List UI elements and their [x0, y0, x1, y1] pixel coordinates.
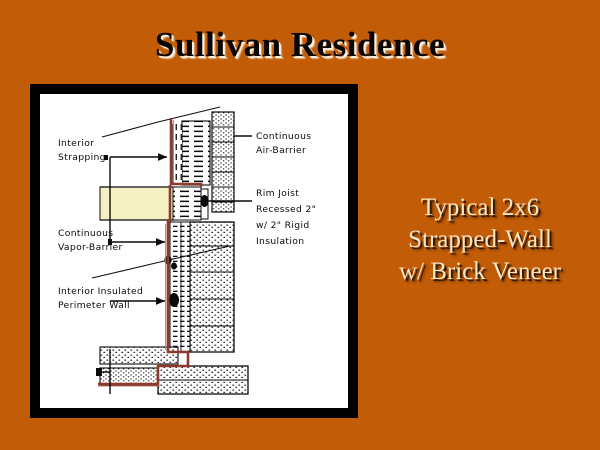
- label-vapor-barrier-line2: Vapor-Barrier: [58, 242, 123, 253]
- page-title: Sullivan Residence: [0, 24, 600, 65]
- label-vapor-barrier-line1: Continuous: [58, 228, 113, 239]
- interior-insulated-perimeter-wall-shape: [169, 222, 190, 352]
- caption-line-3: w/ Brick Veneer: [366, 256, 594, 288]
- wall-section-drawing: Interior Strapping Continuous Vapor-Barr…: [40, 94, 348, 408]
- floor-assembly: [100, 187, 209, 220]
- caption-line-2: Strapped-Wall: [366, 224, 594, 256]
- diagram-frame: Interior Strapping Continuous Vapor-Barr…: [30, 84, 358, 418]
- foundation-wall: [190, 222, 234, 352]
- label-rim-joist-line2: Recessed 2": [256, 204, 316, 215]
- slide-canvas: Sullivan Residence: [0, 0, 600, 450]
- upper-stud-cavity: [173, 121, 210, 185]
- label-perimeter-wall-line1: Interior Insulated: [58, 286, 143, 297]
- caption-block: Typical 2x6 Strapped-Wall w/ Brick Venee…: [366, 192, 594, 288]
- label-air-barrier-line2: Air-Barrier: [256, 145, 306, 156]
- label-rim-joist-line1: Rim Joist: [256, 188, 299, 199]
- label-air-barrier-line1: Continuous: [256, 131, 311, 142]
- label-rim-joist-line4: Insulation: [256, 236, 304, 247]
- label-interior-strapping-line1: Interior: [58, 138, 94, 149]
- brick-veneer-column: [212, 112, 234, 212]
- wall-section-diagram: Interior Strapping Continuous Vapor-Barr…: [40, 94, 348, 408]
- label-perimeter-wall-line2: Perimeter Wall: [58, 300, 130, 311]
- label-rim-joist-line3: w/ 2" Rigid: [256, 220, 310, 231]
- label-interior-strapping-line2: Strapping: [58, 152, 106, 163]
- caption-line-1: Typical 2x6: [366, 192, 594, 224]
